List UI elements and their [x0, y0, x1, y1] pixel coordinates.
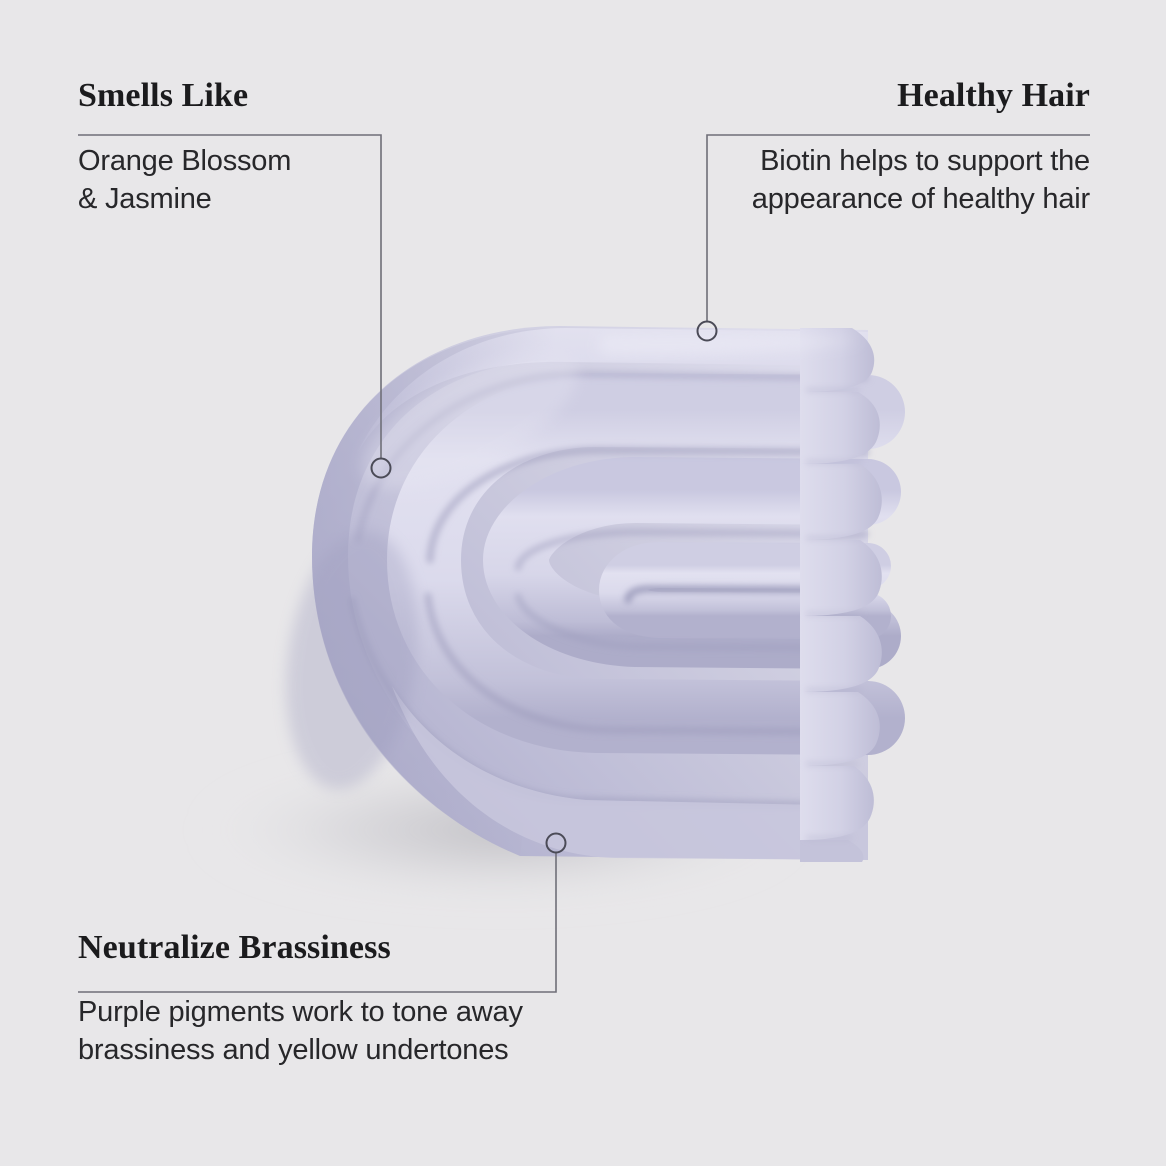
callout-heading-smells-like: Smells Like [78, 76, 558, 116]
callout-body-smells-like: Orange Blossom & Jasmine [78, 142, 558, 218]
callout-body-neutralize-brassiness: Purple pigments work to tone away brassi… [78, 993, 598, 1069]
callout-body-line: Orange Blossom [78, 145, 291, 177]
callout-heading-neutralize-brassiness: Neutralize Brassiness [78, 928, 598, 968]
callout-healthy-hair: Healthy Hair Biotin helps to support the… [628, 76, 1090, 218]
callout-body-line: & Jasmine [78, 183, 212, 215]
callout-body-healthy-hair: Biotin helps to support the appearance o… [628, 142, 1090, 218]
callout-body-line: Purple pigments work to tone away [78, 996, 523, 1028]
callout-heading-healthy-hair: Healthy Hair [628, 76, 1090, 116]
infographic-canvas: Smells Like Orange Blossom & Jasmine Hea… [0, 0, 1166, 1166]
callout-body-line: brassiness and yellow undertones [78, 1034, 508, 1066]
callout-neutralize-brassiness: Neutralize Brassiness Purple pigments wo… [78, 928, 598, 1069]
callout-smells-like: Smells Like Orange Blossom & Jasmine [78, 76, 558, 218]
callout-body-line: appearance of healthy hair [752, 183, 1090, 215]
callout-body-line: Biotin helps to support the [760, 145, 1090, 177]
fold-ends [800, 328, 882, 862]
